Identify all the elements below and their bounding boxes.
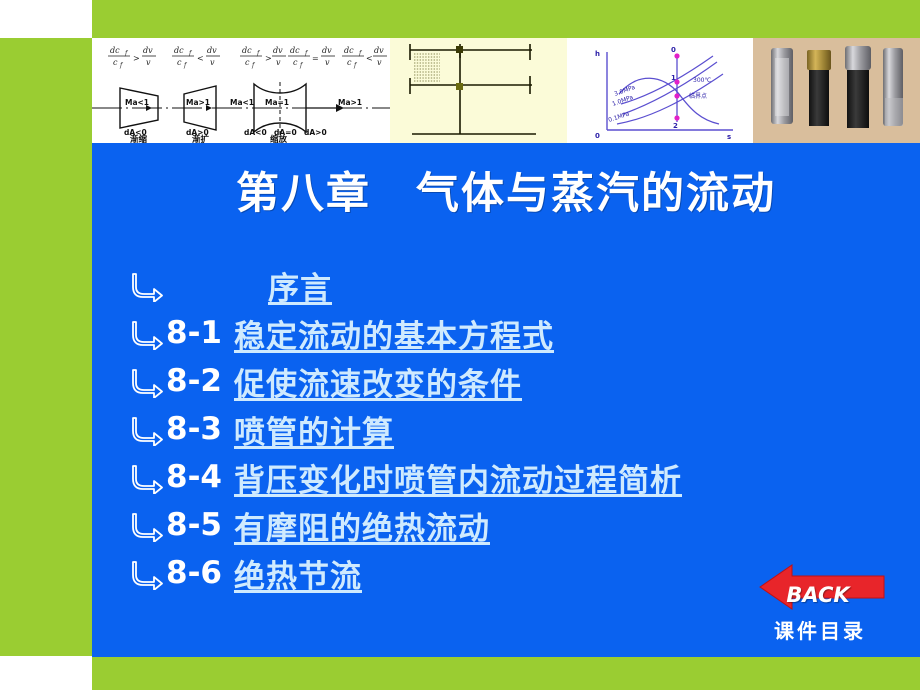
toc-link-8-2[interactable]: 促使流速改变的条件 [234,359,522,404]
svg-text:<: < [197,54,204,63]
toc-item-8-2[interactable]: 8-2 促使流速改变的条件 [130,357,920,405]
svg-text:渐缩: 渐缩 [130,134,148,143]
svg-text:s: s [727,133,731,141]
svg-text:=: = [312,54,319,63]
nozzle-photograph [753,38,920,143]
svg-text:dv: dv [143,46,153,55]
page-title: 第八章 气体与蒸汽的流动 [92,159,920,221]
svg-text:c: c [177,58,182,67]
svg-text:c: c [347,58,352,67]
decor-bottom-bar [92,657,920,690]
hooked-arrow-icon [130,316,164,350]
svg-text:v: v [276,58,281,67]
svg-text:h: h [595,50,600,58]
nozzle-flow-diagram: dcf cf > dv v dcf cf < dv v dcf [92,38,390,143]
presentation-slide: dcf cf > dv v dcf cf < dv v dcf [0,0,920,690]
svg-text:渐扩: 渐扩 [192,134,210,143]
svg-text:c: c [293,58,298,67]
svg-text:Ma<1: Ma<1 [230,98,254,107]
svg-text:v: v [146,58,151,67]
svg-text:dc: dc [290,46,300,55]
svg-text:dA<0: dA<0 [244,128,267,137]
toc-item-preface[interactable]: 序言 [130,261,920,309]
svg-text:1: 1 [671,74,676,82]
toc-number: 8-1 [166,315,228,351]
svg-text:dA>0: dA>0 [304,128,327,137]
table-of-contents: 序言 8-1 稳定流动的基本方程式 8-2 促使流速改变的条件 [130,261,920,597]
toc-link-8-4[interactable]: 背压变化时喷管内流动过程简析 [234,455,682,500]
svg-text:2: 2 [673,122,678,130]
hooked-arrow-icon [130,460,164,494]
toc-item-8-4[interactable]: 8-4 背压变化时喷管内流动过程简析 [130,453,920,501]
svg-text:v: v [210,58,215,67]
svg-text:>: > [133,54,140,63]
h-s-diagram: h s 0 0 1 2 300℃ 临界点 3.0MPa 1.0MPa 0.1MP… [567,38,753,143]
slide-body: 第八章 气体与蒸汽的流动 序言 8-1 稳定流动的基本方程式 [92,143,920,657]
toc-link-8-5[interactable]: 有摩阻的绝热流动 [234,503,490,548]
svg-text:Ma>1: Ma>1 [338,98,362,107]
svg-text:300℃: 300℃ [693,77,711,84]
toc-link-8-6[interactable]: 绝热节流 [234,551,362,596]
toc-item-8-5[interactable]: 8-5 有摩阻的绝热流动 [130,501,920,549]
toc-number: 8-2 [166,363,228,399]
svg-text:dv: dv [374,46,384,55]
svg-text:0: 0 [595,132,600,140]
svg-text:c: c [245,58,250,67]
hooked-arrow-icon [130,412,164,446]
toc-number: 8-3 [166,411,228,447]
svg-text:v: v [377,58,382,67]
svg-text:0: 0 [671,46,676,54]
toc-item-8-1[interactable]: 8-1 稳定流动的基本方程式 [130,309,920,357]
svg-text:dc: dc [174,46,184,55]
svg-text:<: < [366,54,373,63]
decor-left-column [0,38,92,656]
svg-text:dc: dc [110,46,120,55]
toc-number: 8-6 [166,555,228,591]
toc-link-8-3[interactable]: 喷管的计算 [234,407,394,452]
hooked-arrow-icon [130,508,164,542]
svg-text:Ma=1: Ma=1 [265,98,289,107]
header-image-strip: dcf cf > dv v dcf cf < dv v dcf [92,38,920,143]
svg-text:dv: dv [322,46,332,55]
hooked-arrow-icon [130,268,164,302]
back-button-caption: 课件目录 [740,615,900,644]
hooked-arrow-icon [130,556,164,590]
toc-item-8-3[interactable]: 8-3 喷管的计算 [130,405,920,453]
svg-text:dv: dv [273,46,283,55]
toc-link-preface[interactable]: 序言 [268,263,332,308]
svg-text:临界点: 临界点 [689,92,707,100]
svg-text:>: > [265,54,272,63]
back-button[interactable]: BACK 课件目录 [740,561,900,649]
hooked-arrow-icon [130,364,164,398]
svg-text:dv: dv [207,46,217,55]
svg-text:Ma>1: Ma>1 [186,98,210,107]
toc-link-8-1[interactable]: 稳定流动的基本方程式 [234,311,554,356]
svg-text:Ma<1: Ma<1 [125,98,149,107]
toc-number: 8-4 [166,459,228,495]
back-arrow-icon [758,561,888,613]
toc-number: 8-5 [166,507,228,543]
svg-text:缩放: 缩放 [270,134,288,143]
svg-text:v: v [325,58,330,67]
svg-text:c: c [113,58,118,67]
pipe-schematic-diagram [390,38,567,143]
svg-text:dc: dc [242,46,252,55]
svg-text:dc: dc [344,46,354,55]
decor-top-bar [92,0,920,38]
